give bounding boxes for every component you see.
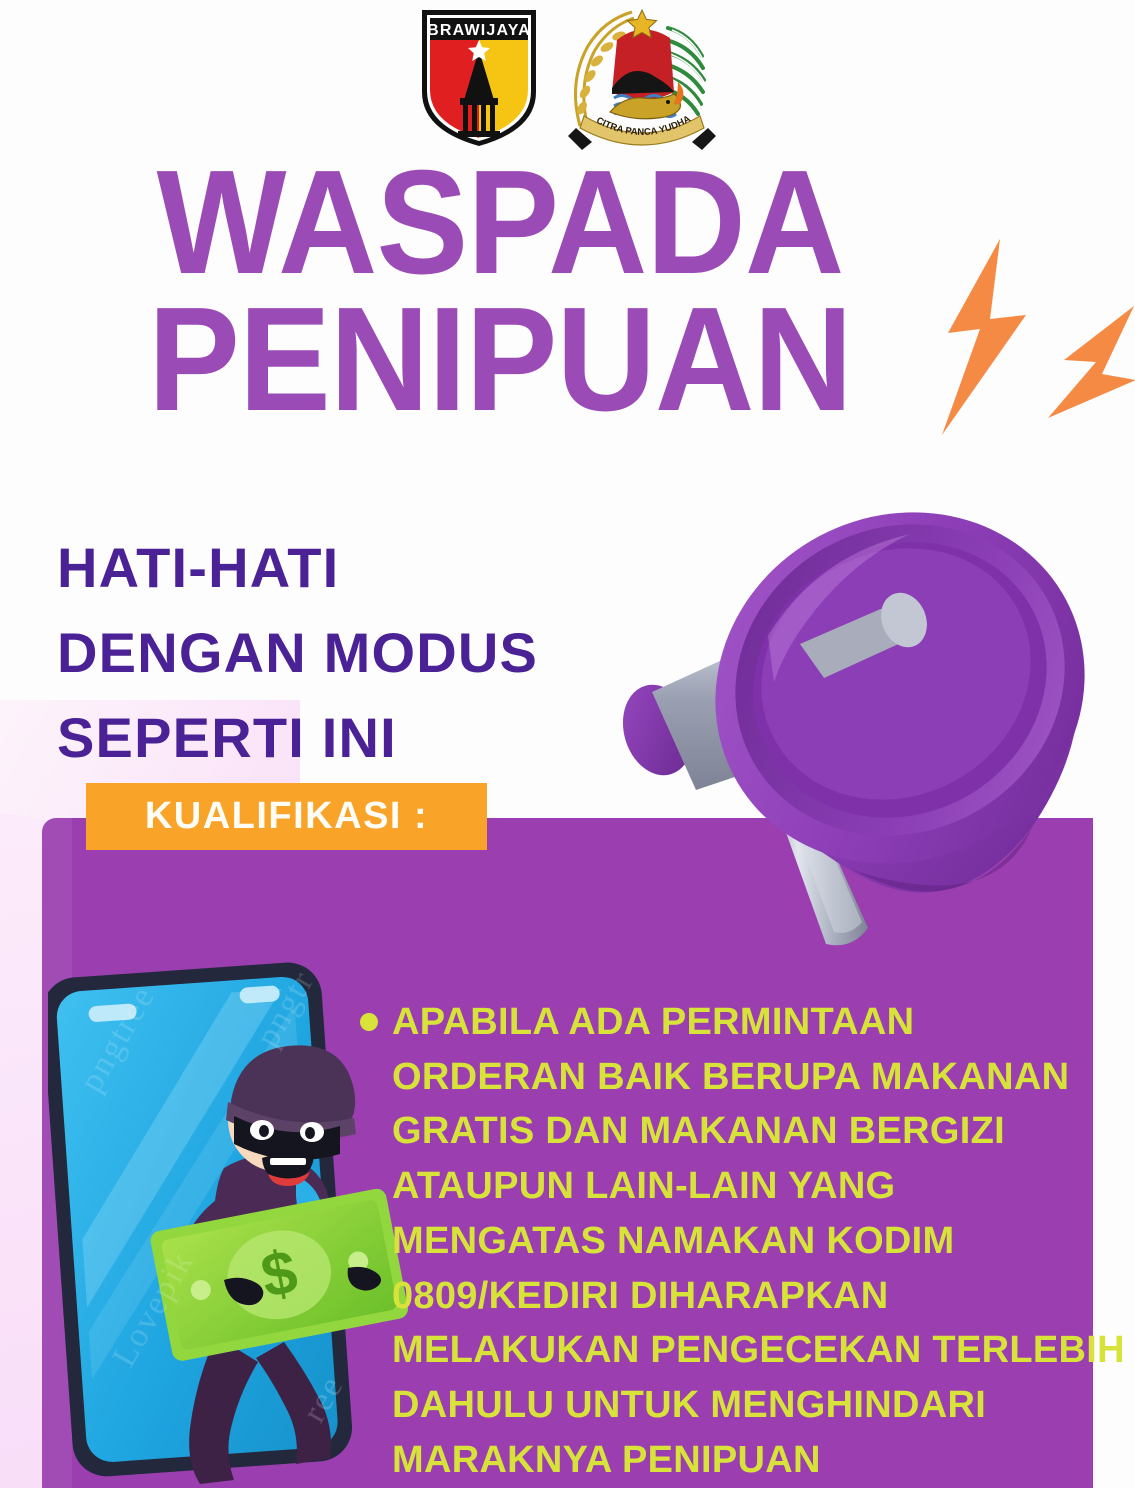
- headline-line-1: WASPADA: [35, 150, 965, 295]
- bullet-list: APABILA ADA PERMINTAAN ORDERAN BAIK BERU…: [360, 995, 1080, 1487]
- subheadline: HATI-HATI DENGAN MODUS SEPERTI INI: [57, 525, 697, 780]
- bullet-item-text: APABILA ADA PERMINTAAN ORDERAN BAIK BERU…: [392, 995, 1125, 1487]
- body-line: GRATIS DAN MAKANAN BERGIZI: [392, 1104, 1125, 1159]
- brawijaya-shield-emblem: BRAWIJAYA: [414, 4, 544, 149]
- thief-emerging-from-phone-illustration: $: [48, 950, 408, 1488]
- status-badge: KUALIFIKASI :: [86, 783, 487, 850]
- headline-line-2: PENIPUAN: [35, 287, 965, 432]
- body-line: ORDERAN BAIK BERUPA MAKANAN: [392, 1050, 1125, 1105]
- brawijaya-banner-text: BRAWIJAYA: [427, 22, 531, 39]
- lightning-bolt-icon-top: [930, 237, 1040, 442]
- poster-canvas: BRAWIJAYA: [0, 0, 1135, 1488]
- subheadline-line-1: HATI-HATI: [57, 525, 697, 610]
- body-line: MARAKNYA PENIPUAN: [392, 1433, 1125, 1488]
- page-title: WASPADA PENIPUAN: [0, 150, 1000, 432]
- body-line: ATAUPUN LAIN-LAIN YANG: [392, 1159, 1125, 1214]
- badge-label: KUALIFIKASI :: [145, 795, 428, 838]
- kodam-crest-emblem: CITRA PANCA YUDHA JAYA: [562, 4, 722, 154]
- body-line: DAHULU UNTUK MENGHINDARI: [392, 1378, 1125, 1433]
- body-line: APABILA ADA PERMINTAAN: [392, 995, 1125, 1050]
- body-line: MELAKUKAN PENGECEKAN TERLEBIH: [392, 1323, 1125, 1378]
- bullet-dot-icon: [360, 1013, 378, 1031]
- body-line: 0809/KEDIRI DIHARAPKAN: [392, 1269, 1125, 1324]
- body-line: MENGATAS NAMAKAN KODIM: [392, 1214, 1125, 1269]
- subheadline-line-2: DENGAN MODUS: [57, 610, 697, 695]
- subheadline-line-3: SEPERTI INI: [57, 695, 697, 780]
- emblem-row: BRAWIJAYA: [0, 4, 1135, 154]
